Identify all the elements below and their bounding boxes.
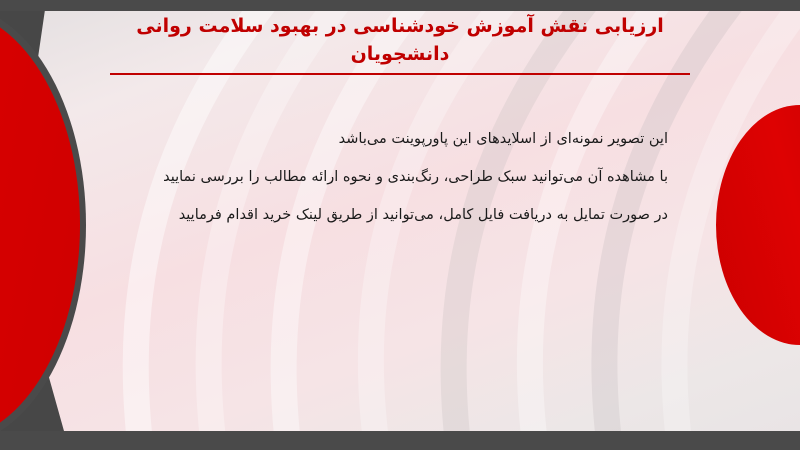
body-line-3: در صورت تمایل به دریافت فایل کامل، می‌تو…	[128, 196, 668, 234]
slide-title-line-2: دانشجویان	[110, 40, 690, 68]
slide-frame-top	[0, 0, 800, 11]
slide-frame-bottom	[0, 431, 800, 450]
title-underline-rule	[110, 73, 690, 75]
body-line-1: این تصویر نمونه‌ای از اسلایدهای این پاور…	[128, 120, 668, 158]
slide-body-text: این تصویر نمونه‌ای از اسلایدهای این پاور…	[128, 120, 668, 234]
body-line-2: با مشاهده آن می‌توانید سبک طراحی، رنگ‌بن…	[128, 158, 668, 196]
slide-title: ارزیابی نقش آموزش خودشناسی در بهبود سلام…	[110, 12, 690, 75]
presentation-slide: ارزیابی نقش آموزش خودشناسی در بهبود سلام…	[0, 0, 800, 450]
slide-title-line-1: ارزیابی نقش آموزش خودشناسی در بهبود سلام…	[110, 12, 690, 40]
